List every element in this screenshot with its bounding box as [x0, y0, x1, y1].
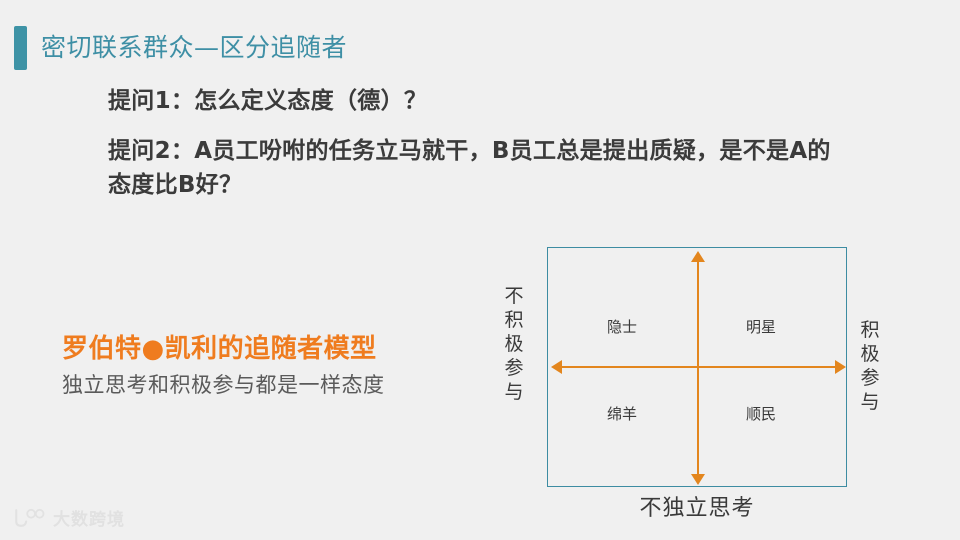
- quadrant-label-bottom-left: 绵羊: [607, 403, 637, 424]
- slide-title-bar: 密切联系群众—区分追随者: [14, 26, 347, 70]
- model-caption: 罗伯特●凯利的追随者模型 独立思考和积极参与都是一样态度: [62, 332, 482, 400]
- axis-label-left: 不积极参与: [502, 284, 526, 404]
- brand-logo-icon: [12, 507, 46, 529]
- watermark: 大数跨境: [12, 505, 125, 530]
- model-headline: 罗伯特●凯利的追随者模型: [62, 332, 482, 366]
- question-1: 提问1：怎么定义态度（德）？: [108, 84, 908, 118]
- page-title: 密切联系群众—区分追随者: [41, 26, 347, 70]
- followership-quadrant-diagram: 隐士 明星 绵羊 顺民 不积极参与 积极参与 不独立思考: [494, 240, 946, 530]
- arrow-up-icon: [691, 251, 705, 262]
- arrow-right-icon: [835, 360, 846, 374]
- arrow-down-icon: [691, 474, 705, 485]
- question-2: 提问2：A员工吩咐的任务立马就干，B员工总是提出质疑，是不是A的态度比B好？: [108, 134, 848, 202]
- axis-label-bottom: 不独立思考: [547, 490, 847, 522]
- question-list: 提问1：怎么定义态度（德）？ 提问2：A员工吩咐的任务立马就干，B员工总是提出质…: [108, 84, 908, 202]
- quadrant-label-top-right: 明星: [746, 316, 776, 337]
- axis-label-right: 积极参与: [858, 318, 882, 414]
- watermark-text: 大数跨境: [53, 505, 125, 530]
- quadrant-label-top-left: 隐士: [607, 316, 637, 337]
- arrow-left-icon: [551, 360, 562, 374]
- model-subtitle: 独立思考和积极参与都是一样态度: [62, 370, 482, 400]
- title-accent-bar: [14, 26, 27, 70]
- quadrant-label-bottom-right: 顺民: [746, 403, 776, 424]
- vertical-axis-line: [697, 260, 699, 475]
